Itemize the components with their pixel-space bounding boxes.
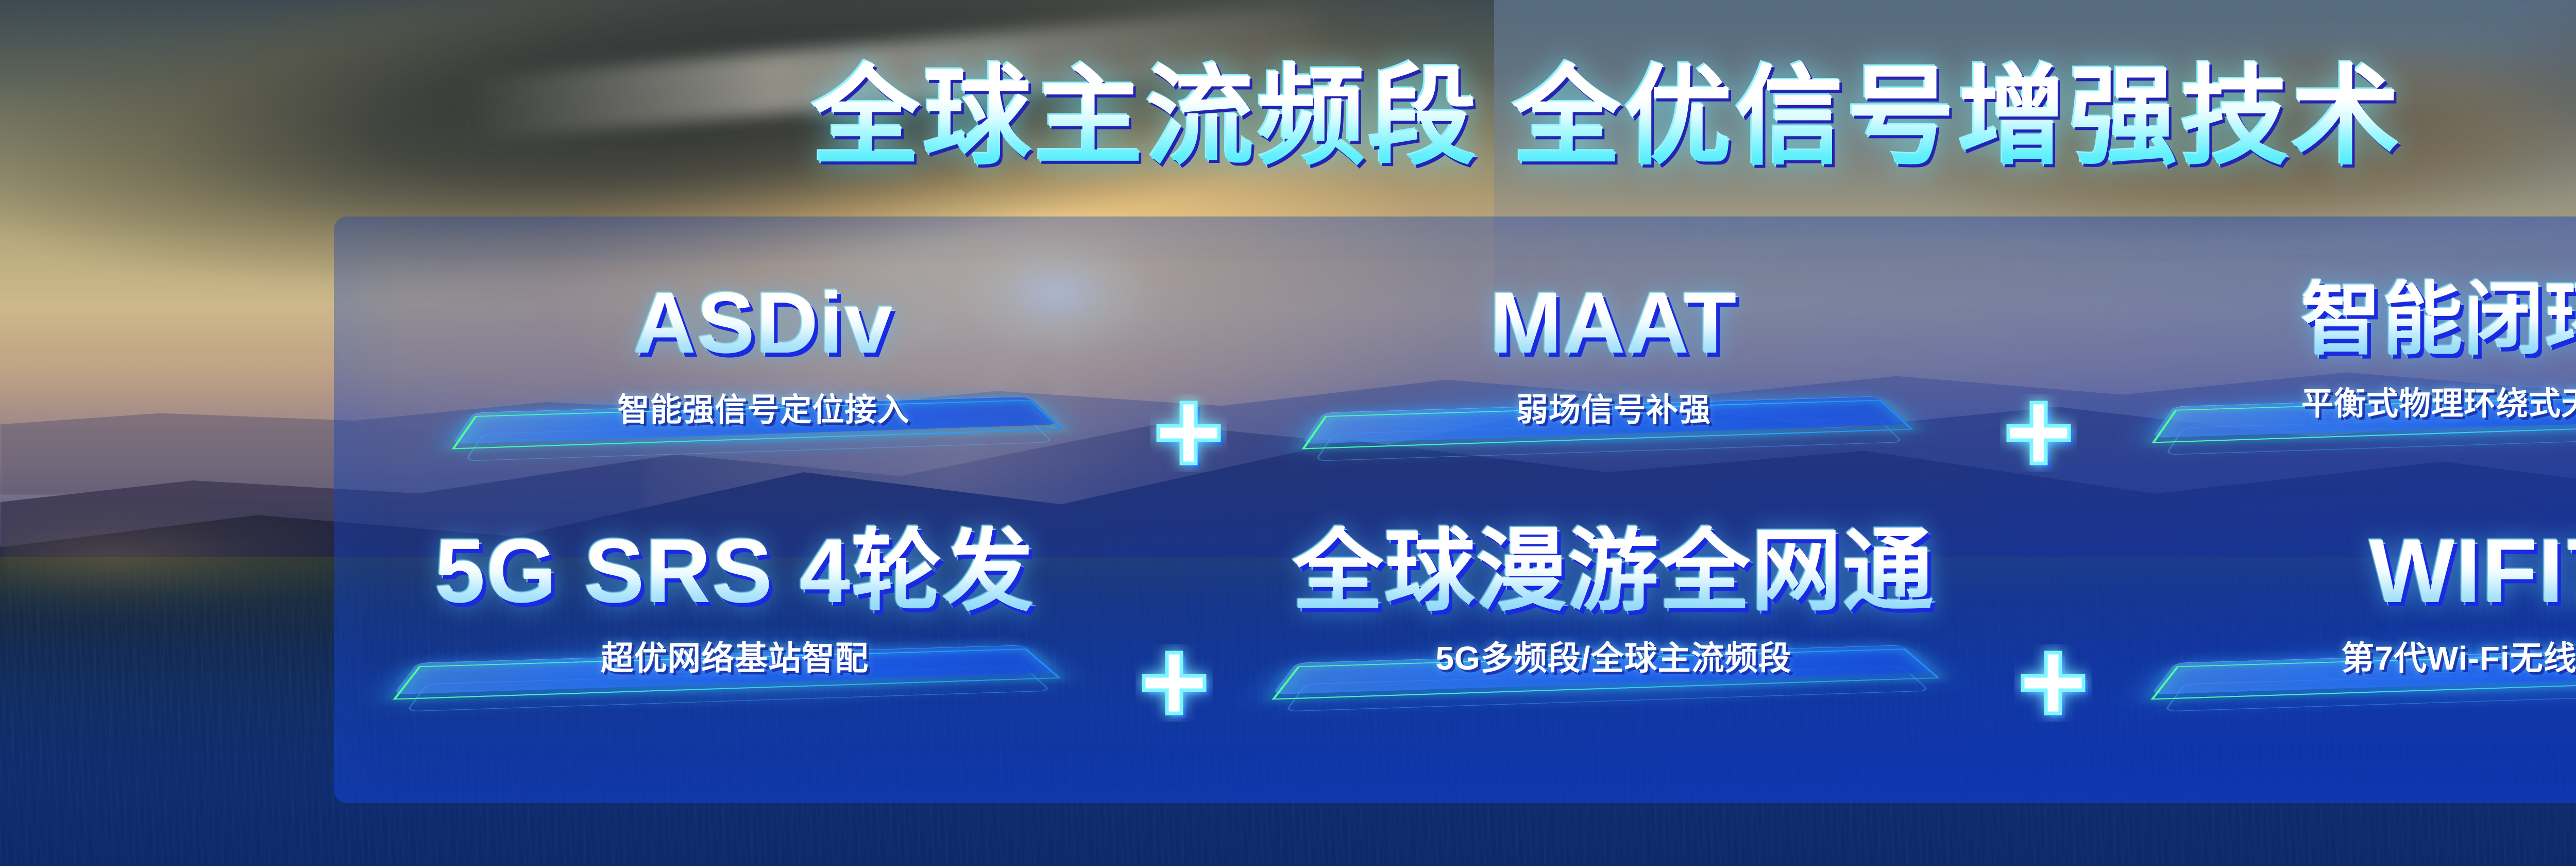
promo-banner: 全球主流频段 全优信号增强技术 ASDiv 智能强信号定位接入 — [0, 0, 2576, 866]
plus-icon — [1136, 644, 1213, 722]
feature-card-global-roaming[interactable]: 全球漫游全网通 5G多频段/全球主流频段 — [1213, 526, 2014, 679]
feature-subtitle: 弱场信号补强 — [1516, 384, 1711, 430]
feature-title: MAAT — [1490, 279, 1738, 366]
feature-row-1: ASDiv 智能强信号定位接入 MAAT 弱场信号补强 — [334, 279, 2576, 522]
feature-card-asdiv[interactable]: ASDiv 智能强信号定位接入 — [377, 279, 1150, 430]
plus-separator-4 — [2014, 644, 2092, 722]
feature-subtitle: 平衡式物理环绕式天线 — [2301, 377, 2576, 424]
feature-subtitle: 第7代Wi-Fi无线网络 — [2341, 632, 2576, 679]
plus-icon — [1150, 394, 1227, 472]
feature-subtitle: 智能强信号定位接入 — [617, 384, 909, 430]
feature-title: 全球漫游全网通 — [1293, 526, 1935, 617]
feature-row-2: 5G SRS 4轮发 超优网络基站智配 全球漫游全网通 5G多频段/全球主流频段 — [334, 526, 2576, 773]
plus-separator-3 — [1136, 644, 1213, 722]
feature-card-maat[interactable]: MAAT 弱场信号补强 — [1227, 279, 2000, 430]
plus-separator-1 — [1150, 394, 1227, 472]
feature-subtitle: 超优网络基站智配 — [601, 632, 869, 679]
feature-card-wifi7[interactable]: WIFI7 第7代Wi-Fi无线网络 — [2092, 526, 2576, 679]
feature-card-intelligent-loop[interactable]: 智能闭环 平衡式物理环绕式天线 — [2077, 279, 2576, 424]
feature-title: ASDiv — [634, 279, 894, 366]
plus-separator-2 — [2000, 394, 2077, 472]
feature-title: 智能闭环 — [2301, 279, 2576, 360]
feature-card-5g-srs[interactable]: 5G SRS 4轮发 超优网络基站智配 — [334, 526, 1136, 679]
feature-title: WIFI7 — [2369, 526, 2576, 617]
feature-title: 5G SRS 4轮发 — [435, 526, 1035, 617]
feature-subtitle: 5G多频段/全球主流频段 — [1435, 632, 1791, 679]
plus-icon — [2000, 394, 2077, 472]
plus-icon — [2014, 644, 2092, 722]
cloud-bank-right — [2370, 0, 2576, 206]
feature-grid: ASDiv 智能强信号定位接入 MAAT 弱场信号补强 — [334, 216, 2576, 803]
